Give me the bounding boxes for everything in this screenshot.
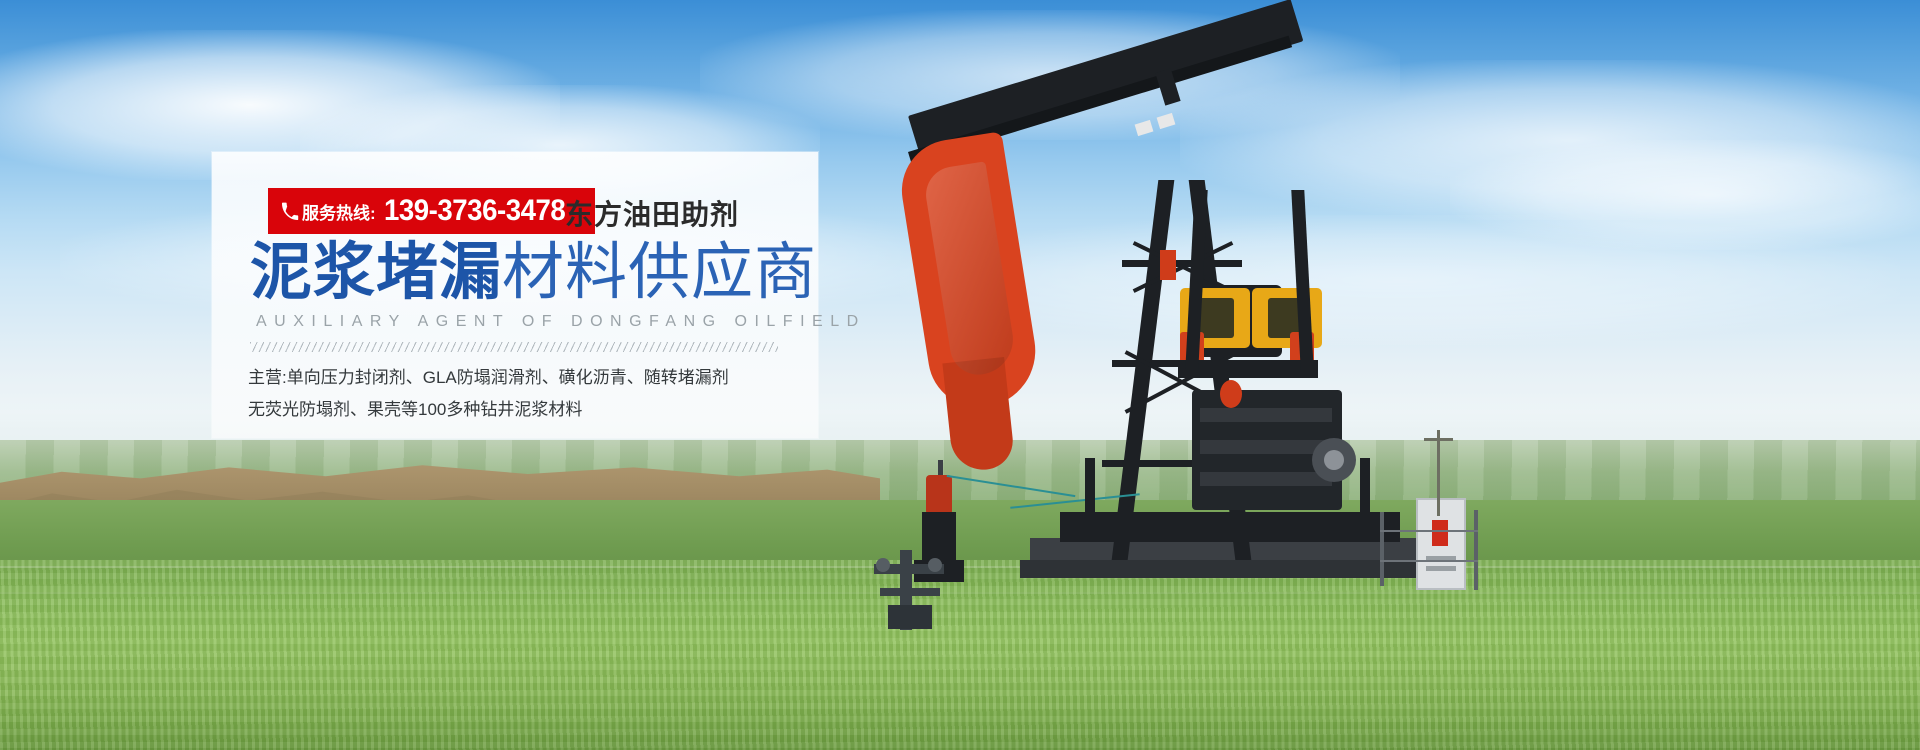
control-cabinet-vent [1426, 566, 1456, 571]
headline-rest: 材料供应商 [502, 238, 817, 307]
fence-rail [1380, 530, 1478, 532]
utility-pole [1437, 430, 1440, 516]
hotline-badge[interactable]: 服务热线: 139-3736-3478 [268, 188, 595, 234]
rig-beam-decal [1157, 113, 1176, 129]
rig-post-marker [1160, 250, 1176, 280]
hotline-label: 服务热线: [302, 199, 376, 224]
rig-gearbox-rib [1200, 472, 1332, 486]
description-line-2: 无荧光防塌剂、果壳等100多种钻井泥浆材料 [248, 394, 729, 426]
wellhead-flange [888, 605, 932, 629]
product-description: 主营:单向压力封闭剂、GLA防塌润滑剂、磺化沥青、随转堵漏剂 无荧光防塌剂、果壳… [248, 362, 729, 426]
hotline-number: 139-3736-3478 [384, 194, 565, 228]
wellhead-valve [876, 558, 890, 572]
fence-post [1474, 510, 1478, 590]
rig-skid-post [1360, 458, 1370, 518]
wellhead-flowline [880, 588, 940, 596]
hero-banner: 服务热线: 139-3736-3478 东方油田助剂 泥浆堵漏材料供应商 AUX… [0, 0, 1920, 750]
rig-control-cable [947, 475, 1076, 497]
pumpjack-illustration [860, 60, 1500, 690]
rig-skid-beam [1060, 512, 1400, 542]
rig-skid-post [1085, 458, 1095, 518]
subtitle-english: AUXILIARY AGENT OF DONGFANG OILFIELD [256, 313, 866, 331]
fence-rail [1380, 560, 1478, 562]
control-cabinet-decal [1432, 520, 1448, 546]
rig-crank-cap [1220, 380, 1242, 408]
page-title: 泥浆堵漏材料供应商 [250, 242, 817, 304]
brand-name: 东方油田助剂 [565, 193, 739, 233]
hatched-divider [250, 342, 778, 352]
wellhead-valve [928, 558, 942, 572]
rig-gearbox-rib [1200, 408, 1332, 422]
phone-icon [280, 202, 299, 221]
headline-emphasis: 泥浆堵漏 [250, 238, 502, 307]
rig-base-pad-shadow [1020, 560, 1440, 578]
utility-pole-crossarm [1424, 438, 1453, 441]
fence-post [1380, 512, 1384, 586]
rig-motor-hub [1324, 450, 1344, 470]
rig-polished-rod-clamp [926, 475, 952, 515]
rig-beam-decal [1135, 120, 1154, 136]
rig-crank-shaft [1178, 360, 1318, 378]
description-line-1: 主营:单向压力封闭剂、GLA防塌润滑剂、磺化沥青、随转堵漏剂 [248, 362, 729, 394]
